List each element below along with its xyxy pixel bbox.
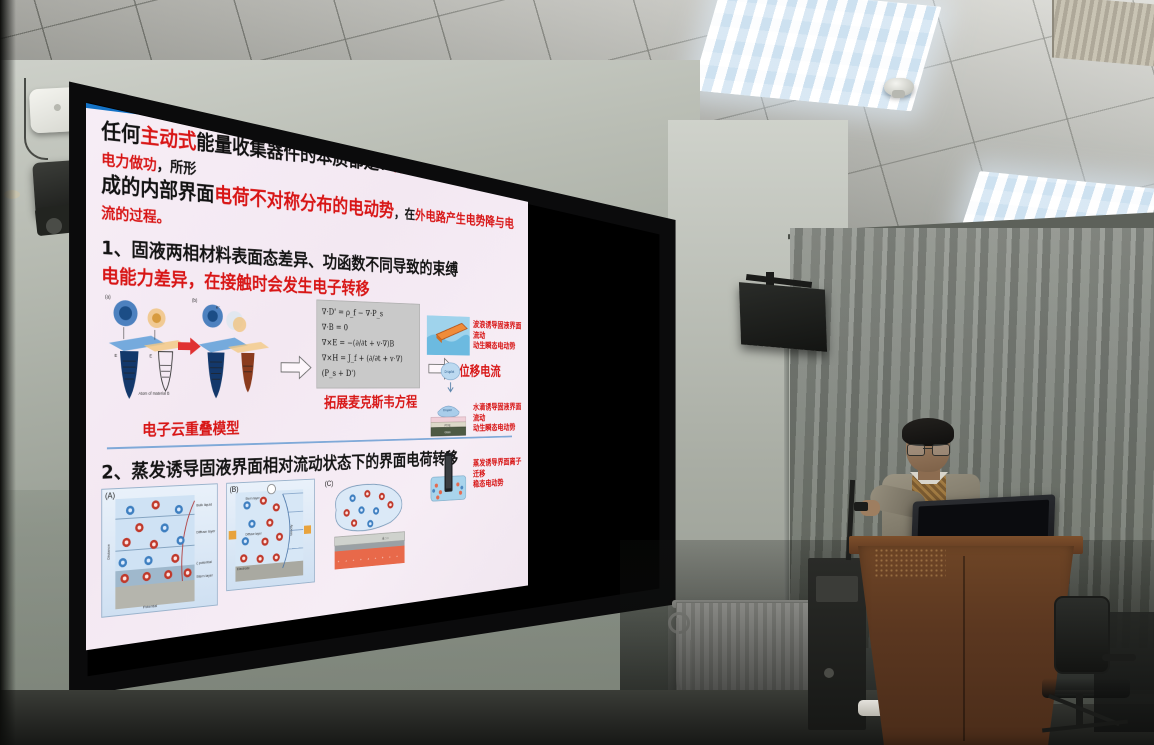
maxwell-caption: 拓展麦克斯韦方程 bbox=[316, 390, 424, 412]
edl-label-stern: Stern layer bbox=[196, 572, 213, 578]
maxwell-equations-box: ∇·D' = ρ_f − ∇·P_s ∇·B = 0 ∇×E = −(∂/∂t … bbox=[316, 299, 420, 388]
lead-line2a: 成的内部界面 bbox=[101, 172, 214, 206]
chair-leg-base bbox=[1042, 720, 1128, 733]
electron-cloud-diagram-svg: (a) (b) bbox=[101, 290, 272, 413]
edl-panel-b: (B) bbox=[226, 478, 315, 591]
wave-device-thumb bbox=[427, 315, 470, 355]
svg-text:Droplet: Droplet bbox=[443, 408, 452, 412]
svg-text:PTFE: PTFE bbox=[445, 424, 452, 428]
electron-cloud-caption: 电子云重叠模型 bbox=[101, 414, 275, 441]
lead-part3: ，所形 bbox=[157, 156, 197, 178]
podium-seam bbox=[963, 556, 965, 741]
presenter-hair bbox=[902, 418, 954, 446]
section-2-number: 2、 bbox=[101, 460, 131, 483]
equation-3: ∇×E = −(∂/∂t + v·∇)B bbox=[322, 336, 415, 353]
droplet-device-label: 水滴诱导固液界面流动 动生瞬态电动势 bbox=[473, 403, 524, 436]
device-thumbnail-column: 波浪诱导固液界面流动 动生瞬态电动势 Droplet bbox=[427, 315, 525, 510]
edl-panel-a: (A) bbox=[101, 483, 218, 618]
edl-label-zeta: ζ potential bbox=[196, 559, 212, 565]
atom-label: Atom of material B bbox=[138, 391, 169, 396]
maxwell-block: ∇·D' = ρ_f − ∇·P_s ∇·B = 0 ∇×E = −(∂/∂t … bbox=[316, 299, 424, 412]
panel-c-tag: (C) bbox=[325, 479, 333, 488]
lead-part1: 任何 bbox=[101, 119, 140, 147]
rack-power-button[interactable] bbox=[824, 668, 834, 678]
wave-device-label: 波浪诱导固液界面流动 动生瞬态电动势 bbox=[473, 320, 524, 353]
edl-label-potential: Potential bbox=[143, 603, 157, 609]
access-point-cable bbox=[24, 78, 48, 160]
lead-highlight-1: 主动式 bbox=[140, 124, 196, 154]
device-item-droplet: Droplet PTFE Glass 水滴诱导固液界面流动 动生瞬态电动势 bbox=[427, 399, 525, 439]
edl-label-distance: Distance bbox=[106, 543, 111, 560]
device-item-evaporation: 蒸发诱导界面离子迁移 稳态电动势 bbox=[427, 448, 525, 503]
chair-armrest bbox=[1102, 654, 1136, 661]
lead-highlight-3: 电荷不对称分布的电动势 bbox=[214, 183, 394, 221]
svg-text:水 □ □: 水 □ □ bbox=[382, 535, 389, 540]
svg-text:Droplet: Droplet bbox=[445, 370, 455, 374]
air-conditioner-vent bbox=[1052, 0, 1154, 67]
svg-text:E: E bbox=[114, 353, 117, 358]
svg-text:(a): (a) bbox=[105, 294, 111, 300]
chair-backrest bbox=[1054, 596, 1110, 674]
evaporation-device-label: 蒸发诱导界面离子迁移 稳态电动势 bbox=[473, 457, 524, 491]
svg-text:E: E bbox=[149, 353, 152, 358]
droplet-device-thumb: Droplet PTFE Glass bbox=[427, 400, 470, 440]
svg-text:e⁻: e⁻ bbox=[216, 305, 221, 310]
electron-cloud-figure: (a) (b) bbox=[101, 290, 272, 415]
evaporation-device-thumb bbox=[427, 450, 470, 503]
arrow-to-equations bbox=[280, 355, 311, 379]
electron-cloud-figure-block: (a) (b) bbox=[101, 290, 275, 441]
left-edge-vignette bbox=[0, 0, 16, 745]
lead-part4: ，在 bbox=[394, 205, 415, 223]
equation-4: ∇×H = J_f + (∂/∂t + v·∇)(P_s + D') bbox=[322, 351, 415, 382]
glasses-icon bbox=[907, 444, 949, 454]
section-1-number: 1、 bbox=[101, 237, 131, 261]
edl-b-label-velocity: Velocity bbox=[290, 524, 293, 536]
podium-speaker-grille bbox=[874, 548, 946, 578]
office-chair-1[interactable] bbox=[1032, 596, 1132, 744]
panel-a-tag: (A) bbox=[105, 491, 115, 501]
svg-text:(b): (b) bbox=[192, 298, 198, 304]
rack-panel bbox=[816, 576, 858, 602]
device-item-wave: 波浪诱导固液界面流动 动生瞬态电动势 bbox=[427, 315, 525, 356]
edl-label-diffuse: Diffuse layer bbox=[196, 528, 215, 534]
edl-label-bulk: Bulk liquid bbox=[196, 502, 212, 508]
panel-b-tag: (B) bbox=[230, 485, 239, 494]
droplet-flow-group: Droplet bbox=[439, 362, 524, 400]
conference-room-scene: 研究背景-原理介绍 任何主动式能量收集器件的本质都是：外场主动刺激下产生的非静电… bbox=[0, 0, 1154, 745]
wall-speaker bbox=[739, 282, 827, 352]
chair-seat bbox=[1042, 678, 1130, 698]
presentation-clicker[interactable] bbox=[854, 502, 868, 511]
camera-adjust-knob[interactable] bbox=[46, 218, 62, 234]
svg-text:Glass: Glass bbox=[445, 431, 451, 435]
smoke-detector-icon bbox=[884, 78, 914, 96]
edl-panel-c: (C) bbox=[322, 474, 410, 580]
